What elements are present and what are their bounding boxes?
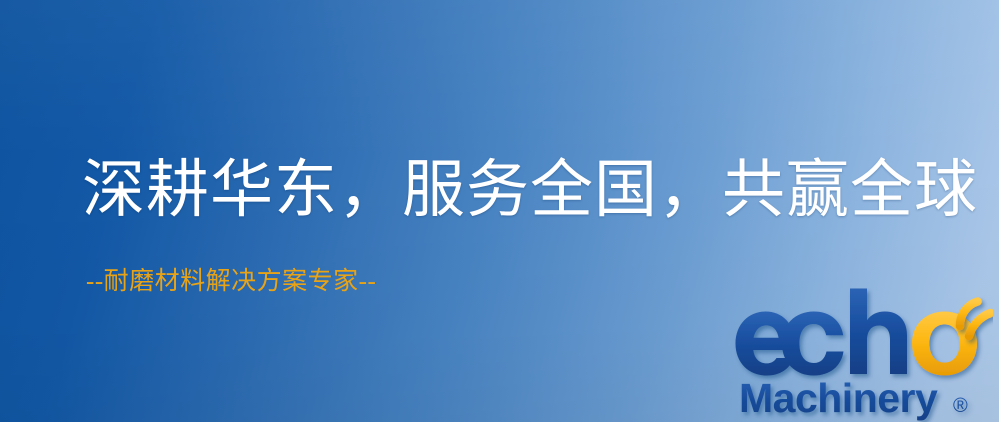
registered-trademark-icon: ® <box>953 395 968 417</box>
logo-tagline-text: Machinery <box>739 375 938 421</box>
hero-banner: 深耕华东，服务全国，共赢全球 --耐磨材料解决方案专家-- <box>0 0 999 422</box>
logo-tagline: Machinery ® <box>739 375 968 421</box>
logo-letter-c <box>782 312 844 376</box>
page-subtitle: --耐磨材料解决方案专家-- <box>86 266 376 298</box>
logo-artwork: Machinery ® <box>731 288 993 422</box>
logo-letter-h <box>850 289 907 375</box>
logo-wordmark-echo <box>736 289 978 376</box>
echo-machinery-logo[interactable]: Machinery ® <box>731 288 993 422</box>
logo-letter-o <box>912 312 977 376</box>
page-title: 深耕华东，服务全国，共赢全球 <box>82 152 978 228</box>
